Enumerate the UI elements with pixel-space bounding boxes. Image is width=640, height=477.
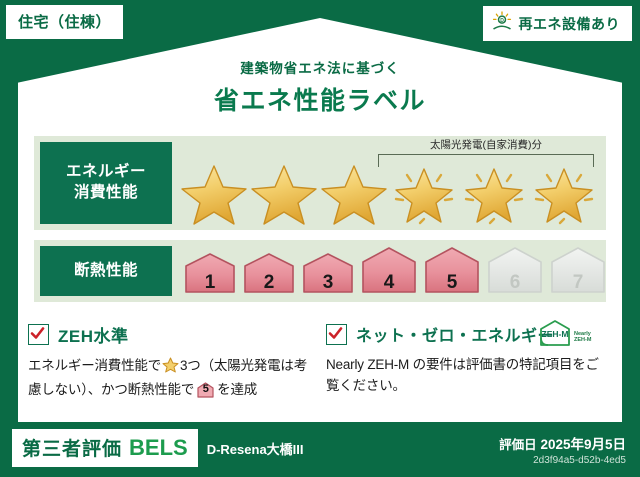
footer-eval-group: 評価日 2025年9月5日 2d3f94a5-d52b-4ed5 xyxy=(499,433,626,466)
energy-label-line1: エネルギー xyxy=(66,162,146,183)
building-name: D-Resena大橋III xyxy=(207,439,304,458)
bels-badge: 第三者評価 BELS xyxy=(12,429,198,467)
insulation-label-text: 断熱性能 xyxy=(74,261,138,282)
zeh-desc-part1: エネルギー消費性能で xyxy=(28,358,161,373)
net-zero-title: ネット・ゼロ・エネルギー xyxy=(356,322,554,346)
bels-logo-text: BELS xyxy=(129,435,188,461)
insulation-level-5-value: 5 xyxy=(422,272,482,294)
insulation-level-7: 7 xyxy=(548,244,608,299)
insulation-performance-label: 断熱性能 xyxy=(40,246,172,296)
energy-star-1 xyxy=(180,161,248,227)
net-zero-heading: ネット・ゼロ・エネルギー ZEH-M Nearly ZEH-M xyxy=(326,322,606,346)
zeh-title: ZEH水準 xyxy=(58,322,129,347)
insulation-level-4: 4 xyxy=(359,244,419,299)
insulation-level-2: 2 xyxy=(241,250,297,299)
net-zero-energy-block: ネット・ゼロ・エネルギー ZEH-M Nearly ZEH-M Nearly Z… xyxy=(326,322,606,397)
inline-star-icon xyxy=(162,357,179,380)
insulation-level-4-value: 4 xyxy=(359,272,419,294)
footer-bels-group: 第三者評価 BELS D-Resena大橋III xyxy=(12,429,304,467)
evaluation-date-value: 2025年9月5日 xyxy=(540,437,626,452)
insulation-level-3: 3 xyxy=(300,250,356,299)
renewable-badge-label: 再エネ設備あり xyxy=(519,14,621,34)
third-party-eval-label: 第三者評価 xyxy=(22,434,122,461)
zeh-m-logo-icon: ZEH-M Nearly ZEH-M xyxy=(538,318,612,353)
energy-stars-row xyxy=(180,161,598,227)
zeh-heading: ZEH水準 xyxy=(28,322,308,347)
insulation-levels-row: 1 2 3 4 xyxy=(182,244,608,299)
insulation-level-6: 6 xyxy=(485,244,545,299)
title-main: 省エネ性能ラベル xyxy=(0,81,640,117)
solar-bracket-label: 太陽光発電(自家消費)分 xyxy=(358,137,614,152)
zeh-desc-part3: を達成 xyxy=(217,382,257,397)
insulation-level-7-value: 7 xyxy=(548,272,608,294)
energy-label-root: 住宅（住棟） D 再エネ設備あり 建築物省エネ法に基づく 省エネ性能ラベル xyxy=(0,0,640,477)
evaluation-id: 2d3f94a5-d52b-4ed5 xyxy=(499,455,626,466)
zeh-standard-block: ZEH水準 エネルギー消費性能で 3つ（太陽光発電は考慮しない）、かつ断熱性能で… xyxy=(28,322,308,401)
insulation-level-1-value: 1 xyxy=(182,272,238,294)
renewable-equipment-badge: D 再エネ設備あり xyxy=(483,6,633,41)
inline-insulation-badge: 5 xyxy=(196,381,215,398)
sun-solar-icon: D xyxy=(491,11,513,36)
insulation-level-1: 1 xyxy=(182,250,238,299)
insulation-level-5: 5 xyxy=(422,244,482,299)
energy-star-solar-5 xyxy=(460,161,528,227)
energy-star-solar-4 xyxy=(390,161,458,227)
label-title-group: 建築物省エネ法に基づく 省エネ性能ラベル xyxy=(0,57,640,117)
evaluation-date-label: 評価日 xyxy=(499,438,537,452)
energy-performance-panel: エネルギー 消費性能 太陽光発電(自家消費)分 xyxy=(34,136,606,230)
building-type-tag: 住宅（住棟） xyxy=(6,5,123,39)
inline-insulation-badge-value: 5 xyxy=(196,381,215,398)
zeh-checkbox-checked-icon xyxy=(28,324,49,345)
energy-performance-label: エネルギー 消費性能 xyxy=(40,142,172,224)
insulation-level-3-value: 3 xyxy=(300,272,356,294)
net-zero-checkbox-checked-icon xyxy=(326,324,347,345)
energy-stars-area: 太陽光発電(自家消費)分 xyxy=(172,136,606,230)
energy-star-2 xyxy=(250,161,318,227)
energy-label-line2: 消費性能 xyxy=(74,183,138,204)
zeh-description: エネルギー消費性能で 3つ（太陽光発電は考慮しない）、かつ断熱性能で 5を達成 xyxy=(28,356,308,401)
title-subtitle: 建築物省エネ法に基づく xyxy=(0,57,640,77)
insulation-level-6-value: 6 xyxy=(485,272,545,294)
svg-text:D: D xyxy=(500,18,504,24)
insulation-performance-panel: 断熱性能 1 2 xyxy=(34,240,606,302)
svg-text:ZEH-M: ZEH-M xyxy=(542,329,569,339)
zeh-desc-stars: 3つ（太陽光発電 xyxy=(180,358,280,373)
evaluation-date: 評価日 2025年9月5日 xyxy=(499,433,626,453)
svg-text:ZEH-M: ZEH-M xyxy=(574,337,592,343)
net-zero-description: Nearly ZEH-M の要件は評価書の特記項目をご覧ください。 xyxy=(326,355,606,397)
energy-star-solar-6 xyxy=(530,161,598,227)
insulation-level-2-value: 2 xyxy=(241,272,297,294)
energy-star-3 xyxy=(320,161,388,227)
